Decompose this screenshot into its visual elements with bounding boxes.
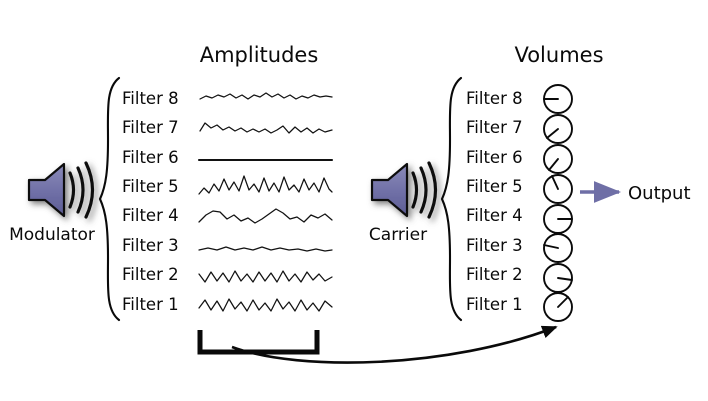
amplitude-row: Filter 3 (122, 236, 332, 255)
amplitude-row: Filter 1 (122, 295, 332, 314)
rotary-knob-icon[interactable] (544, 115, 572, 143)
curved-arrow-icon (232, 327, 556, 363)
amplitude-row: Filter 4 (122, 206, 332, 225)
filter-label: Filter 5 (122, 177, 179, 196)
filter-label: Filter 4 (122, 206, 179, 225)
rotary-knob-icon[interactable] (544, 85, 572, 113)
filter-label: Filter 3 (466, 236, 523, 255)
waveform-trace (199, 271, 332, 282)
carrier-block: Carrier (369, 163, 436, 245)
volume-row: Filter 5 (466, 175, 572, 203)
modulator-block: Modulator (9, 163, 95, 245)
waveform-trace (199, 209, 332, 223)
volume-row: Filter 3 (466, 234, 572, 262)
volume-row: Filter 4 (466, 205, 572, 233)
waveform-trace (199, 299, 332, 311)
amplitude-row: Filter 8 (122, 89, 332, 108)
volumes-brace (442, 78, 461, 320)
amplitude-row: Filter 7 (122, 118, 332, 137)
volume-row: Filter 7 (466, 115, 572, 143)
amplitudes-heading: Amplitudes (200, 43, 319, 67)
rotary-knob-icon[interactable] (544, 145, 572, 173)
rotary-knob-icon[interactable] (544, 205, 572, 233)
vocoder-diagram: Amplitudes Volumes Modulator Filter 8 Fi… (0, 0, 708, 401)
amplitude-row: Filter 2 (122, 265, 332, 284)
waveform-trace (199, 176, 332, 194)
volume-row: Filter 2 (466, 264, 572, 292)
filter-label: Filter 8 (122, 89, 179, 108)
rotary-knob-icon[interactable] (544, 175, 572, 203)
filter-label: Filter 8 (466, 89, 523, 108)
amplitude-row: Filter 6 (122, 148, 332, 167)
rotary-knob-icon[interactable] (544, 293, 572, 321)
filter-label: Filter 1 (466, 295, 523, 314)
waveform-trace (200, 123, 332, 133)
filter-label: Filter 6 (122, 148, 179, 167)
filter-label: Filter 5 (466, 177, 523, 196)
volumes-column: Filter 8 Filter 7 Filter 6 (466, 85, 572, 321)
filter-label: Filter 6 (466, 148, 523, 167)
diagram-canvas: Amplitudes Volumes Modulator Filter 8 Fi… (0, 0, 708, 401)
volume-row: Filter 1 (466, 293, 572, 321)
filter-label: Filter 2 (122, 265, 179, 284)
filter-label: Filter 4 (466, 206, 523, 225)
volume-row: Filter 6 (466, 145, 572, 173)
amplitude-row: Filter 5 (122, 176, 332, 196)
amplitudes-brace (100, 78, 119, 320)
amplitudes-column: Filter 8 Filter 7 Filter 6 Filter 5 Filt… (122, 89, 332, 314)
output-block: Output (580, 183, 691, 204)
filter-label: Filter 7 (122, 118, 179, 137)
rotary-knob-icon[interactable] (544, 264, 572, 292)
carrier-label: Carrier (369, 225, 427, 245)
speaker-icon (372, 163, 436, 217)
speaker-icon (29, 163, 93, 217)
modulator-label: Modulator (9, 225, 95, 245)
output-label: Output (628, 183, 691, 204)
amplitudes-bottom-bracket (200, 330, 317, 352)
filter-label: Filter 1 (122, 295, 179, 314)
volume-row: Filter 8 (466, 85, 572, 113)
waveform-trace (199, 247, 332, 251)
filter-label: Filter 2 (466, 265, 523, 284)
volumes-heading: Volumes (514, 43, 603, 67)
filter-label: Filter 3 (122, 236, 179, 255)
waveform-trace (200, 93, 332, 99)
rotary-knob-icon[interactable] (544, 234, 572, 262)
filter-label: Filter 7 (466, 118, 523, 137)
